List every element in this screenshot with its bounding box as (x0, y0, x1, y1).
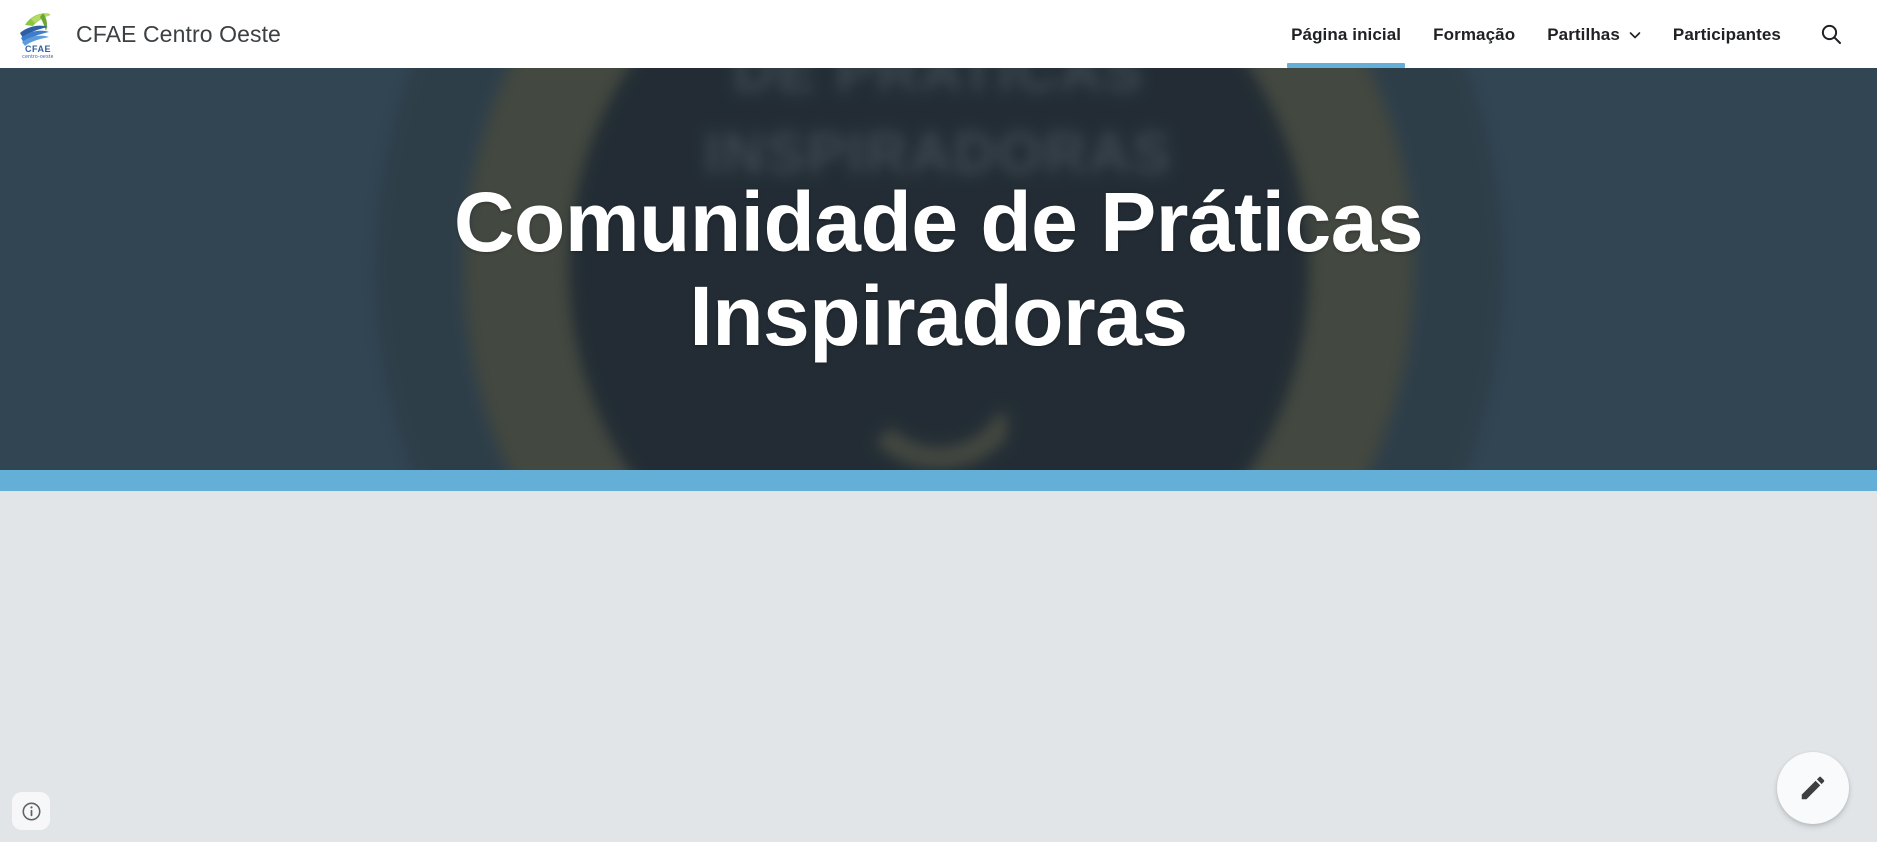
nav-label: Partilhas (1547, 26, 1620, 43)
svg-text:CFAE: CFAE (25, 44, 51, 54)
accent-bar (0, 470, 1877, 491)
page-title: Comunidade de Práticas Inspiradoras (389, 175, 1489, 363)
nav-label: Página inicial (1291, 26, 1401, 43)
edit-page-button[interactable] (1777, 752, 1849, 824)
nav-item-participantes[interactable]: Participantes (1657, 0, 1797, 68)
nav-label: Participantes (1673, 26, 1781, 43)
cfae-logo-icon: CFAE centro-oeste (14, 9, 62, 59)
nav-label: Formação (1433, 26, 1515, 43)
nav-item-formacao[interactable]: Formação (1417, 0, 1531, 68)
main-nav: Página inicial Formação Partilhas Partic… (1275, 0, 1877, 68)
nav-item-partilhas[interactable]: Partilhas (1531, 0, 1657, 68)
pencil-icon (1798, 773, 1828, 803)
search-icon[interactable] (1803, 0, 1859, 68)
hero-content: Comunidade de Práticas Inspiradoras (0, 68, 1877, 470)
site-header: CFAE centro-oeste CFAE Centro Oeste Pági… (0, 0, 1877, 68)
page-root: CFAE centro-oeste CFAE Centro Oeste Pági… (0, 0, 1877, 842)
main-content: COMUNIDADE DE PRATICAS INSPIRADORAS (0, 491, 1877, 842)
hero-banner: COMUNIDADE DE PRATICAS INSPIRADORAS Comu… (0, 68, 1877, 470)
chevron-down-icon (1629, 29, 1641, 41)
brand[interactable]: CFAE centro-oeste CFAE Centro Oeste (14, 0, 281, 68)
info-icon[interactable] (12, 792, 50, 830)
svg-text:centro-oeste: centro-oeste (22, 54, 53, 59)
site-title: CFAE Centro Oeste (76, 23, 281, 46)
nav-item-pagina-inicial[interactable]: Página inicial (1275, 0, 1417, 68)
